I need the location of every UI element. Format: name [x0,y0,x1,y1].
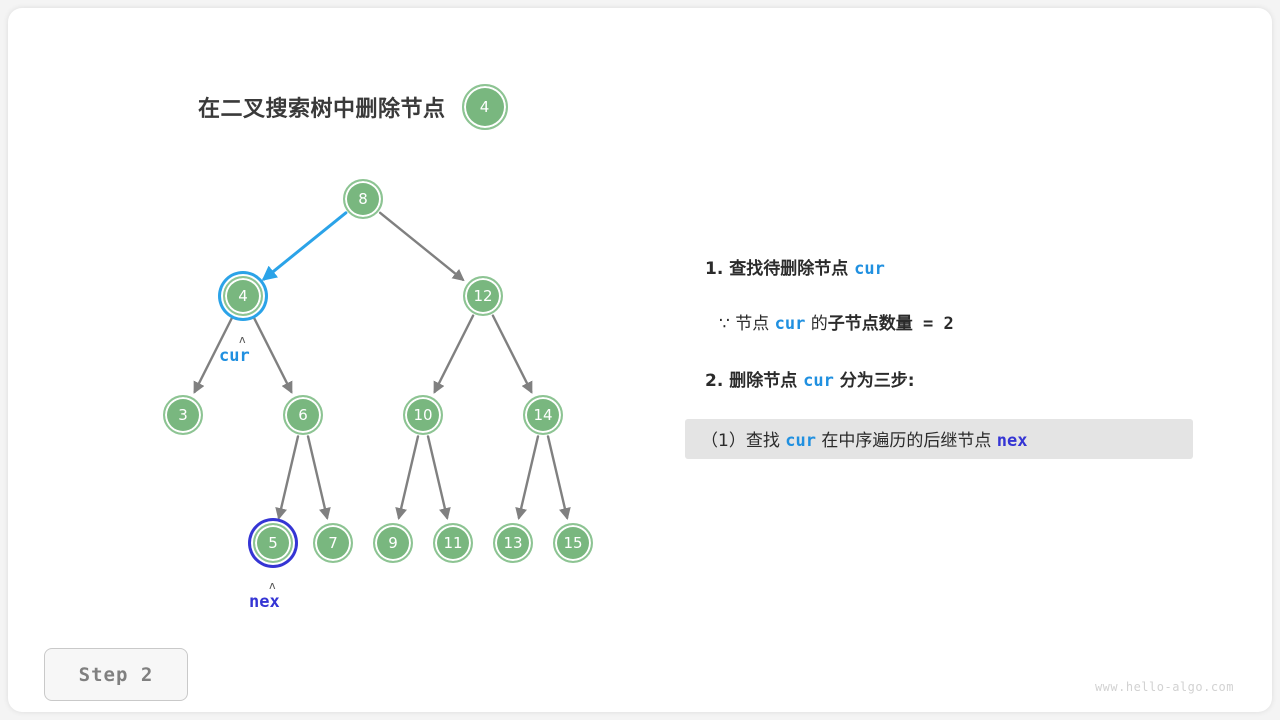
panel-line-1-prefix: 1. 查找待删除节点 [705,259,854,279]
page-title-block: 在二叉搜索树中删除节点 4 [198,84,508,130]
panel-line-2: ∵ 节点 cur 的子节点数量 = 2 [719,309,1225,334]
tree-edge [253,316,291,392]
panel-line-1-code-cur: cur [854,259,885,279]
tree-node-6: 6 [283,395,323,435]
panel-line-4-mid: 在中序遍历的后继节点 [816,431,997,451]
footer-watermark: www.hello-algo.com [1095,680,1234,694]
panel-line-3-prefix: 2. 删除节点 [705,371,803,391]
tree-edge [399,436,418,517]
tree-node-5: 5 [253,523,293,563]
pointer-label-cur: cur [219,346,250,366]
tree-node-8: 8 [343,179,383,219]
tree-node-10: 10 [403,395,443,435]
title-value-badge: 4 [462,84,508,130]
panel-line-4: （1）查找 cur 在中序遍历的后继节点 nex [701,426,1179,451]
tree-edge [308,436,327,517]
tree-node-4: 4 [223,276,263,316]
tree-edge [428,436,447,517]
tree-edge [435,316,473,392]
tree-edge [279,436,298,517]
panel-line-2-mid: 的 [805,314,827,334]
diagram-card: 在二叉搜索树中删除节点 4 8412361014579111315 ʌcurʌn… [8,8,1272,712]
step-badge: Step 2 [44,648,188,701]
panel-line-3: 2. 删除节点 cur 分为三步: [705,366,1225,391]
panel-line-4-prefix: （1）查找 [701,431,785,451]
panel-line-4-code-cur: cur [785,431,816,451]
tree-node-7: 7 [313,523,353,563]
panel-line-2-pre: 节点 [730,314,775,334]
pointer-caret-icon-nex: ʌ [269,580,276,591]
pointer-label-nex: nex [249,592,280,612]
tree-edge [519,436,538,517]
pointer-caret-icon-cur: ʌ [239,334,246,345]
panel-line-4-code-nex: nex [997,431,1028,451]
tree-edge [380,213,463,280]
page-title: 在二叉搜索树中删除节点 [198,91,446,123]
tree-node-9: 9 [373,523,413,563]
screenshot-stage: 在二叉搜索树中删除节点 4 8412361014579111315 ʌcurʌn… [0,0,1280,720]
tree-node-11: 11 [433,523,473,563]
tree-node-15: 15 [553,523,593,563]
panel-line-2-eq: = [913,314,944,334]
panel-line-2-value: 2 [943,314,953,334]
panel-line-2-bold: 子节点数量 [828,314,913,334]
panel-line-2-code-cur: cur [775,314,806,334]
panel-highlight-box: （1）查找 cur 在中序遍历的后继节点 nex [685,419,1193,459]
panel-line-1: 1. 查找待删除节点 cur [705,254,1225,279]
tree-node-12: 12 [463,276,503,316]
panel-line-3-code-cur: cur [803,371,834,391]
tree-edge [548,436,567,517]
tree-node-3: 3 [163,395,203,435]
panel-line-3-suffix: 分为三步: [834,371,915,391]
because-symbol: ∵ [719,314,730,334]
tree-node-13: 13 [493,523,533,563]
tree-edge [264,213,346,279]
tree-edge [493,316,531,392]
explanation-panel: 1. 查找待删除节点 cur ∵ 节点 cur 的子节点数量 = 2 2. 删除… [705,254,1225,399]
tree-node-14: 14 [523,395,563,435]
edges-group [195,213,567,518]
